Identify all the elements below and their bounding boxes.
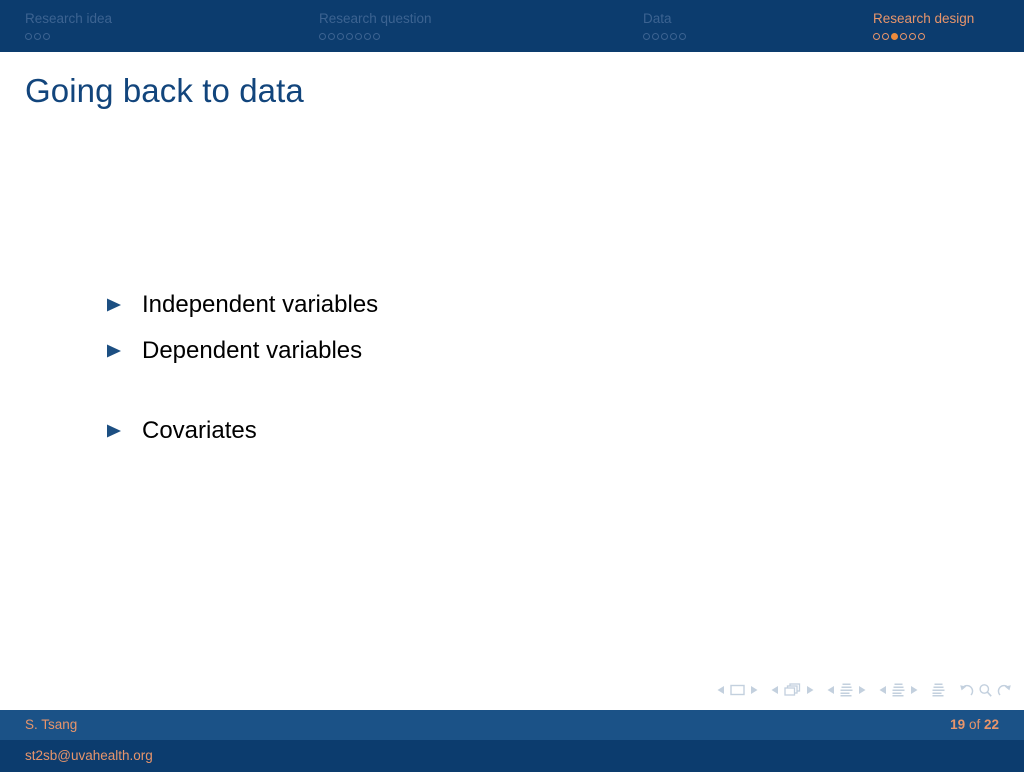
- header-section-label: Data: [643, 11, 686, 26]
- footer-email: st2sb@uvahealth.org: [25, 748, 153, 763]
- history-navigation-group[interactable]: [959, 683, 1012, 698]
- header-section-dots[interactable]: [873, 30, 974, 42]
- triangle-bullet-icon: [105, 342, 125, 360]
- header-dot[interactable]: [364, 33, 371, 40]
- list-item: Independent variables: [0, 290, 1024, 336]
- header-dot[interactable]: [652, 33, 659, 40]
- list-item-label: Dependent variables: [142, 336, 362, 366]
- slide-content: Independent variables Dependent variable…: [0, 290, 1024, 462]
- page-of-word: of: [969, 717, 980, 732]
- header-dot[interactable]: [373, 33, 380, 40]
- footer-author-bar: S. Tsang 19 of 22: [0, 710, 1024, 740]
- header-dot[interactable]: [355, 33, 362, 40]
- header-section-label: Research question: [319, 11, 432, 26]
- right-triangle-icon[interactable]: [910, 685, 918, 695]
- header-dot[interactable]: [918, 33, 925, 40]
- frame-navigation-group[interactable]: [771, 682, 814, 698]
- header-dot[interactable]: [882, 33, 889, 40]
- list-item-label: Covariates: [142, 416, 257, 446]
- header-dot[interactable]: [346, 33, 353, 40]
- header-dot[interactable]: [25, 33, 32, 40]
- frames-icon[interactable]: [783, 682, 802, 698]
- header-section-research-question[interactable]: Research question: [319, 11, 432, 42]
- back-arrow-icon[interactable]: [959, 683, 974, 698]
- footer-page-counter: 19 of 22: [950, 717, 999, 732]
- triangle-bullet-icon: [105, 296, 125, 314]
- subsection-navigation-group[interactable]: [827, 682, 866, 698]
- header-dot[interactable]: [661, 33, 668, 40]
- document-icon[interactable]: [931, 682, 946, 698]
- right-triangle-icon[interactable]: [806, 685, 814, 695]
- slide-icon[interactable]: [729, 683, 746, 697]
- header-dot[interactable]: [900, 33, 907, 40]
- header-dot[interactable]: [909, 33, 916, 40]
- footer-author-name: S. Tsang: [25, 717, 77, 732]
- header-section-dots[interactable]: [643, 30, 686, 42]
- section-navigation-group[interactable]: [879, 682, 918, 698]
- section-icon[interactable]: [891, 682, 906, 698]
- list-item-label: Independent variables: [142, 290, 378, 320]
- slide-navigation-group[interactable]: [717, 683, 758, 697]
- header-dot[interactable]: [34, 33, 41, 40]
- header-section-research-design[interactable]: Research design: [873, 11, 974, 42]
- right-triangle-icon[interactable]: [858, 685, 866, 695]
- left-triangle-icon[interactable]: [771, 685, 779, 695]
- header-section-research-idea[interactable]: Research idea: [25, 11, 112, 42]
- page-total: 22: [984, 717, 999, 732]
- page-current: 19: [950, 717, 965, 732]
- header-section-label: Research design: [873, 11, 974, 26]
- header-section-label: Research idea: [25, 11, 112, 26]
- beamer-navigation-symbols[interactable]: [717, 678, 1012, 702]
- list-item: Covariates: [0, 416, 1024, 462]
- header-dot[interactable]: [670, 33, 677, 40]
- list-item: Dependent variables: [0, 336, 1024, 382]
- header-dot[interactable]: [643, 33, 650, 40]
- document-navigation-group[interactable]: [931, 682, 946, 698]
- subsection-icon[interactable]: [839, 682, 854, 698]
- slide-title: Going back to data: [25, 72, 304, 110]
- header-dot[interactable]: [873, 33, 880, 40]
- right-triangle-icon[interactable]: [750, 685, 758, 695]
- header-navigation-bar: Research idea Research question Data: [0, 0, 1024, 52]
- header-dot[interactable]: [337, 33, 344, 40]
- header-section-dots[interactable]: [319, 30, 432, 42]
- header-dot[interactable]: [43, 33, 50, 40]
- triangle-bullet-icon: [105, 422, 125, 440]
- left-triangle-icon[interactable]: [879, 685, 887, 695]
- forward-arrow-icon[interactable]: [997, 683, 1012, 698]
- search-icon[interactable]: [978, 683, 993, 698]
- left-triangle-icon[interactable]: [717, 685, 725, 695]
- header-dot-current[interactable]: [891, 33, 898, 40]
- left-triangle-icon[interactable]: [827, 685, 835, 695]
- footer-contact-bar: st2sb@uvahealth.org: [0, 740, 1024, 772]
- header-dot[interactable]: [679, 33, 686, 40]
- header-dot[interactable]: [319, 33, 326, 40]
- header-dot[interactable]: [328, 33, 335, 40]
- header-section-data[interactable]: Data: [643, 11, 686, 42]
- header-section-dots[interactable]: [25, 30, 112, 42]
